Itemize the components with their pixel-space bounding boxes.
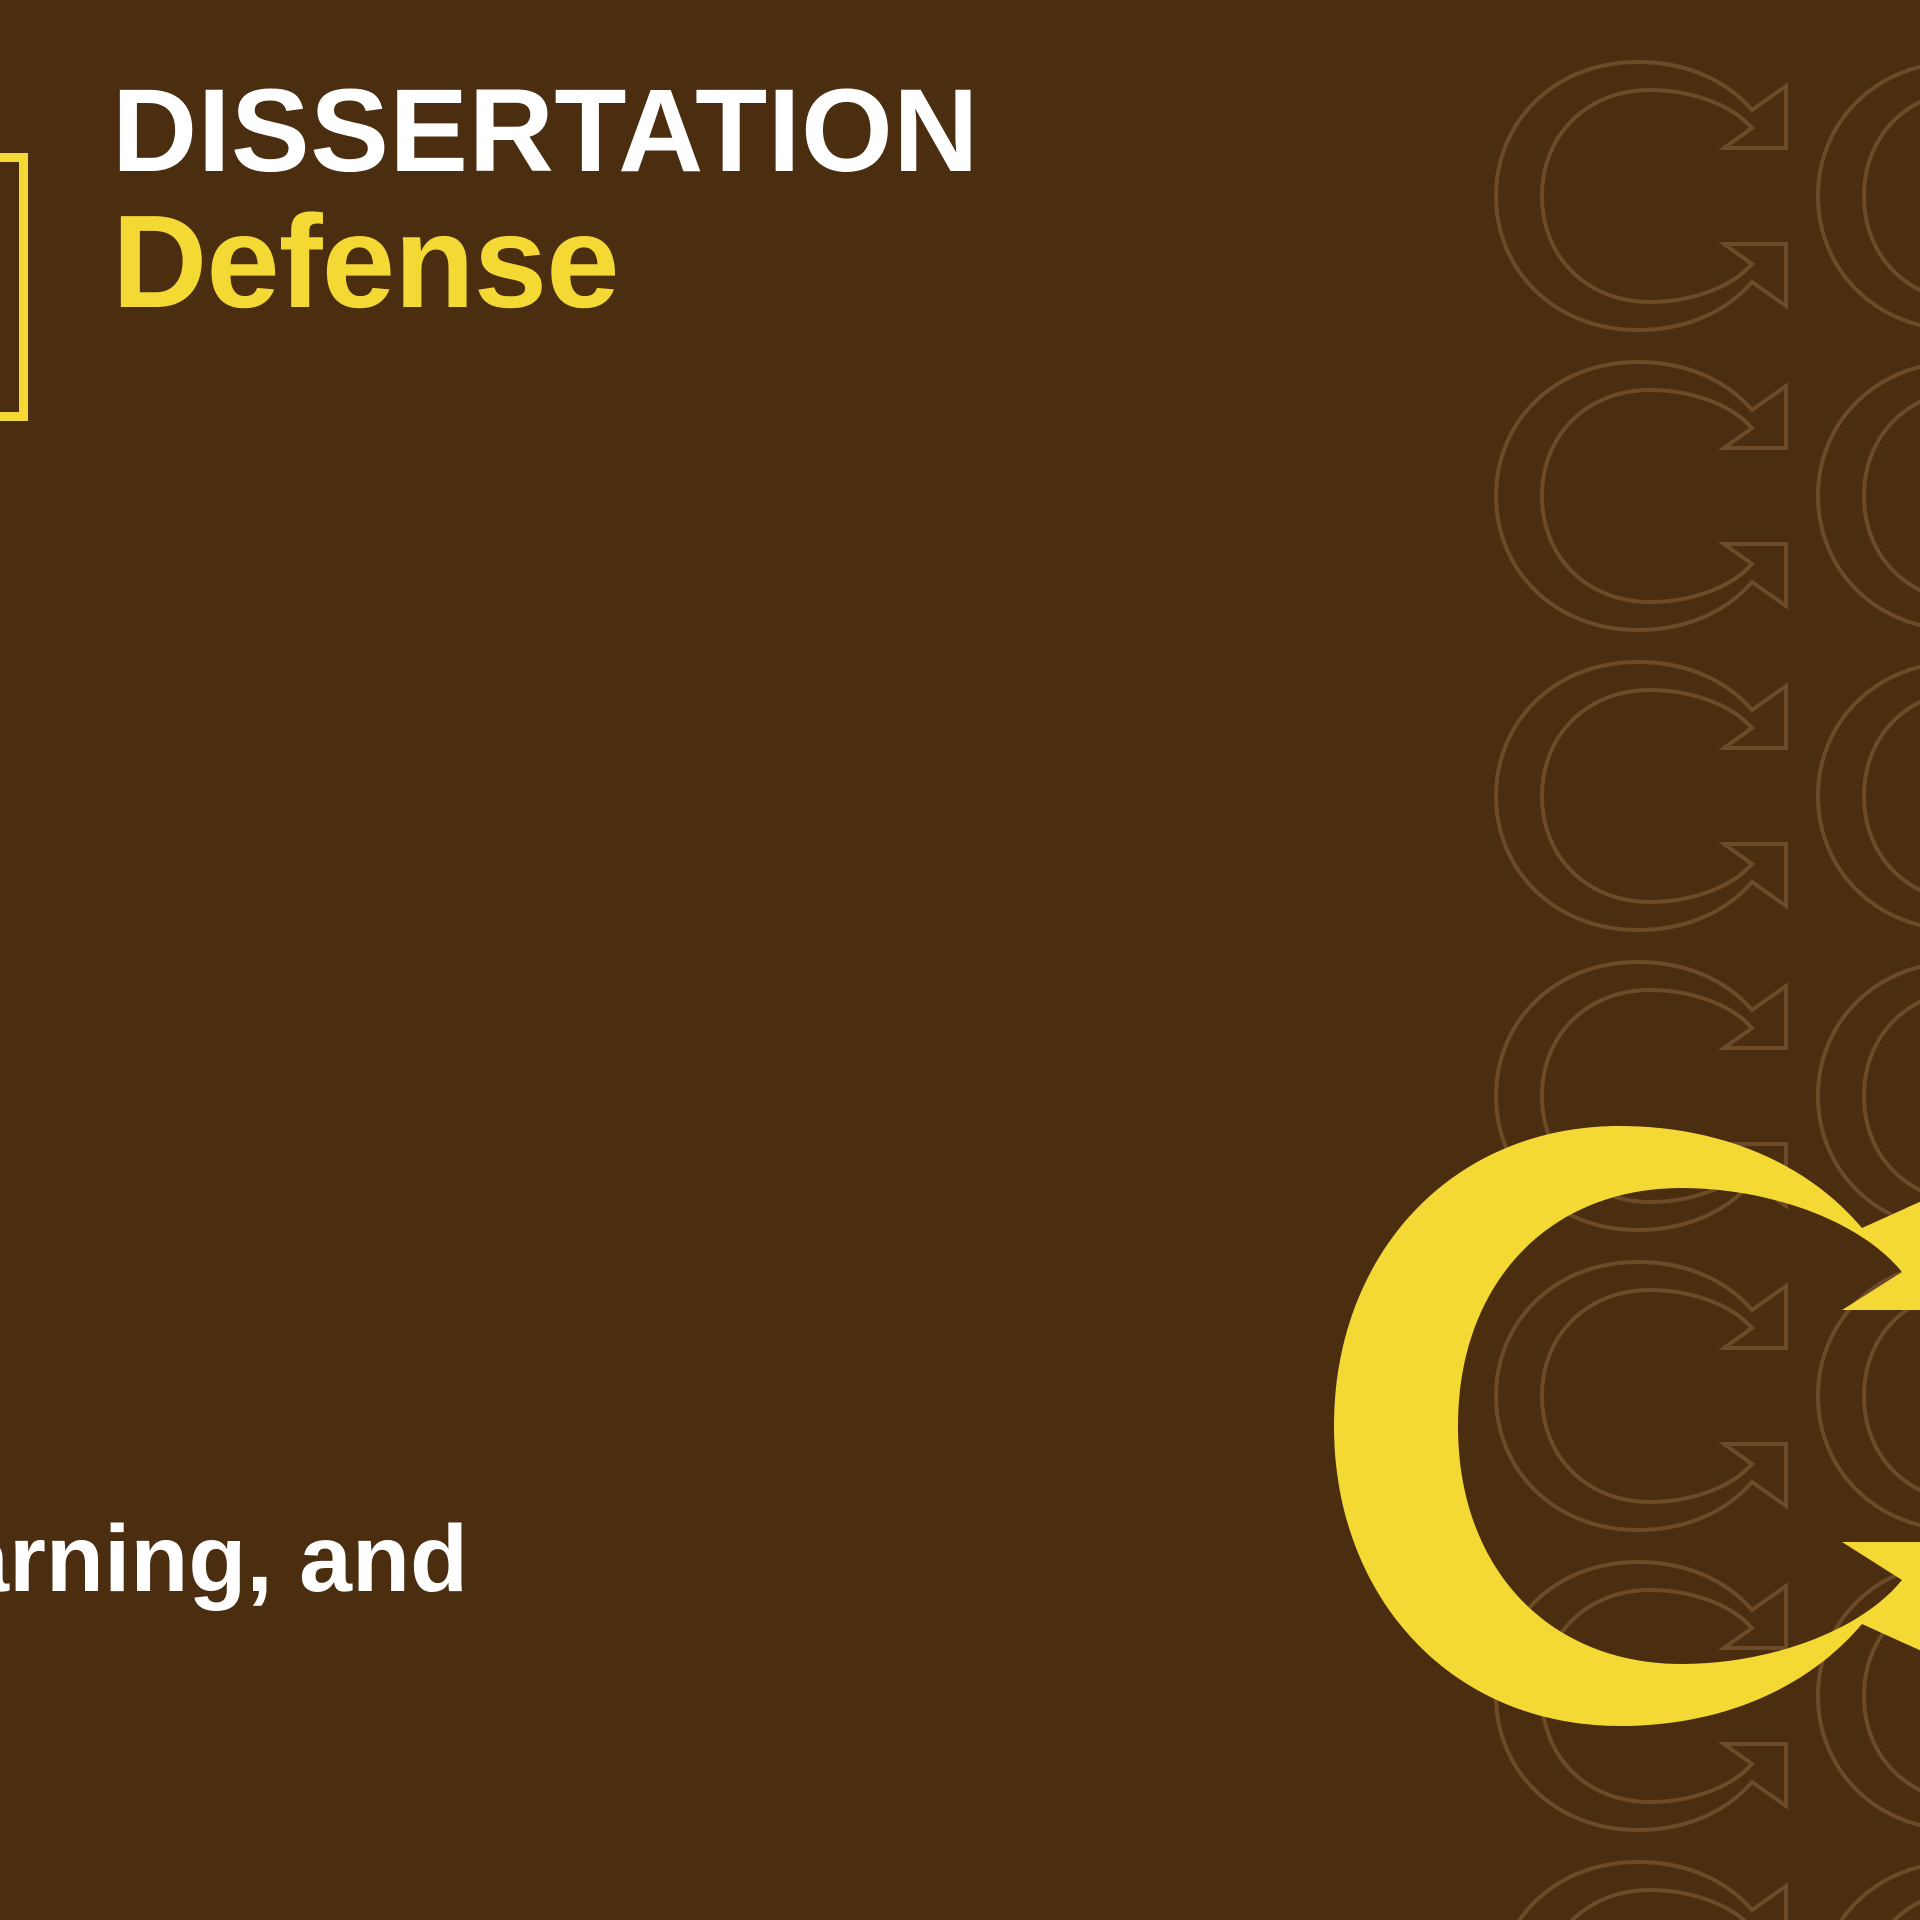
eyebrow-title: DISSERTATION (112, 74, 1232, 190)
repeating-c-pattern-watermark (1200, 0, 1920, 1920)
yellow-bracket-accent (0, 153, 28, 421)
poster-canvas: DISSERTATION Defense ing, Learning, and … (0, 0, 1920, 1920)
program-line-2: ology (0, 1641, 1070, 1804)
program-block: ing, Learning, and ology (0, 1478, 1070, 1805)
header-block: DISSERTATION Defense (112, 74, 1232, 328)
gt-c-logo (1230, 1090, 1920, 1920)
page-title: Defense (112, 196, 1232, 328)
program-line-1: ing, Learning, and (0, 1478, 1070, 1641)
